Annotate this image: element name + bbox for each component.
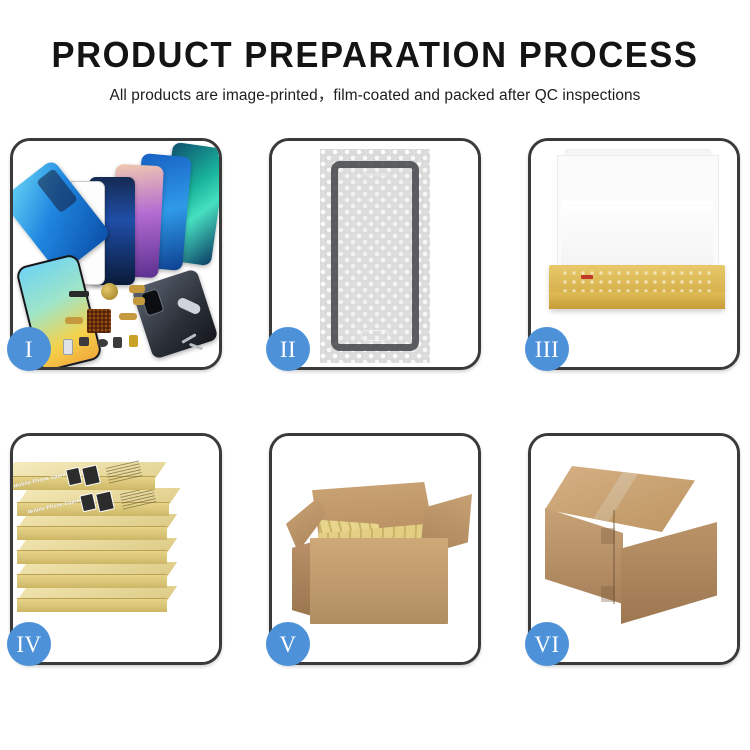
sealed-shipping-carton bbox=[545, 466, 733, 628]
earpiece-slot bbox=[362, 173, 388, 176]
kraft-box-stacked bbox=[17, 514, 167, 540]
process-row-bottom: Mobile Phone Spare Parts Mobile Phone Sp… bbox=[10, 433, 740, 665]
carton-hand-hole-bottom bbox=[601, 586, 615, 602]
process-step-1[interactable]: I bbox=[10, 138, 222, 370]
phone-back-housing bbox=[131, 268, 219, 359]
part-connector bbox=[129, 335, 138, 347]
step-1-badge: I bbox=[7, 327, 51, 371]
box-face bbox=[17, 550, 167, 564]
part-wireless-coil bbox=[101, 283, 118, 300]
process-step-3[interactable]: III bbox=[528, 138, 740, 370]
carton-right-panel bbox=[621, 522, 717, 624]
part-flex-cable-a bbox=[129, 285, 145, 293]
box-face bbox=[17, 526, 167, 540]
kraft-box-labeled-upper: Mobile Phone Spare Parts bbox=[13, 462, 155, 490]
box-stack: Mobile Phone Spare Parts Mobile Phone Sp… bbox=[17, 458, 217, 648]
carton-side-panel bbox=[292, 542, 312, 616]
kraft-box-stacked bbox=[17, 538, 167, 564]
part-speaker bbox=[97, 339, 108, 347]
wrapped-phone-screen bbox=[331, 161, 419, 351]
step-6-badge: VI bbox=[525, 622, 569, 666]
process-step-2[interactable]: II bbox=[269, 138, 481, 370]
page-subtitle: All products are image-printed，film-coat… bbox=[0, 74, 750, 105]
step-5-badge: V bbox=[266, 622, 310, 666]
carton-front-panel bbox=[310, 538, 448, 624]
part-camera-module bbox=[79, 337, 89, 346]
product-preparation-process-page: PRODUCT PREPARATION PROCESS All products… bbox=[0, 0, 750, 750]
process-step-6[interactable]: VI bbox=[528, 433, 740, 665]
box-interior bbox=[561, 201, 713, 275]
page-header: PRODUCT PREPARATION PROCESS All products… bbox=[0, 0, 750, 105]
part-battery-strip bbox=[69, 291, 89, 297]
screen-label-sticker bbox=[581, 275, 593, 279]
part-logic-board bbox=[87, 309, 111, 333]
process-steps-grid: I II bbox=[10, 138, 740, 665]
process-step-5[interactable]: V bbox=[269, 433, 481, 665]
bubble-wrap-sheet bbox=[320, 149, 430, 363]
part-flex-cable-d bbox=[119, 313, 137, 320]
part-flex-cable-b bbox=[133, 297, 145, 305]
kraft-box-tray bbox=[549, 265, 725, 309]
part-flex-cable-c bbox=[65, 317, 83, 324]
box-face bbox=[17, 574, 167, 588]
step-3-badge: III bbox=[525, 327, 569, 371]
carton-hand-hole-top bbox=[601, 528, 615, 544]
process-step-4[interactable]: Mobile Phone Spare Parts Mobile Phone Sp… bbox=[10, 433, 222, 665]
kraft-box-labeled-lower: Mobile Phone Spare Parts bbox=[17, 488, 169, 516]
home-button bbox=[361, 330, 389, 341]
step-4-badge: IV bbox=[7, 622, 51, 666]
box-front-face bbox=[549, 292, 725, 309]
process-row-top: I II bbox=[10, 138, 740, 370]
box-face bbox=[17, 598, 167, 612]
kraft-box-stacked bbox=[17, 562, 167, 588]
page-title: PRODUCT PREPARATION PROCESS bbox=[15, 0, 735, 74]
part-sim-tray bbox=[63, 339, 73, 355]
packed-screen bbox=[561, 269, 713, 292]
part-vibrator bbox=[113, 337, 122, 348]
kraft-box-stacked bbox=[17, 586, 167, 612]
step-2-badge: II bbox=[266, 327, 310, 371]
open-shipping-carton bbox=[292, 476, 468, 626]
